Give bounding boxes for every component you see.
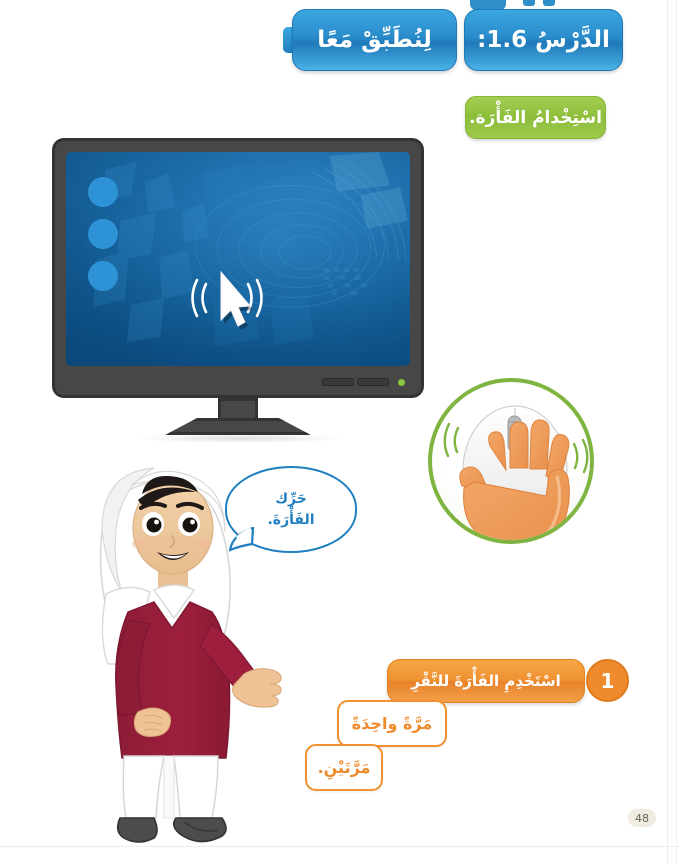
motion-arc-right — [248, 280, 262, 316]
page-gutter-line — [667, 0, 668, 864]
pants-right-icon — [174, 756, 218, 818]
speech-bubble-tail — [229, 527, 255, 553]
mouse-cursor-group — [186, 264, 276, 334]
motion-arc-left — [445, 424, 458, 456]
answer-option-twice[interactable]: مَرَّتَيْنِ. — [305, 744, 383, 791]
answer-option-once[interactable]: مَرَّةً واحِدَةً — [337, 700, 447, 747]
arrow-cursor-icon — [221, 272, 253, 330]
task-number-badge: 1 — [586, 659, 629, 702]
apply-together-title: لِنُطَبِّقْ مَعًا — [292, 9, 457, 71]
header-decor-tab-2 — [523, 0, 535, 6]
motion-arc-left — [193, 280, 207, 316]
page-header: لِنُطَبِّقْ مَعًا الدَّرْسُ 1.6: — [0, 0, 680, 80]
monitor-button-2[interactable] — [357, 378, 389, 386]
shoe-left-icon — [118, 818, 157, 842]
motion-arc-right — [574, 440, 587, 472]
speech-line-2: الفَأْرَةَ. — [267, 510, 314, 531]
desktop-icon-3[interactable] — [88, 261, 118, 291]
textbook-page: لِنُطَبِّقْ مَعًا الدَّرْسُ 1.6: اسْتِخْ… — [0, 0, 680, 864]
monitor-button-1[interactable] — [322, 378, 354, 386]
page-gutter-line-outer — [676, 0, 677, 864]
monitor-screen — [66, 152, 410, 366]
desktop-icon-1[interactable] — [88, 177, 118, 207]
page-number: 48 — [628, 809, 656, 827]
monitor-bezel — [52, 138, 424, 398]
task-instruction-banner: اسْتَخْدِمِ الفَأْرَةَ للنَّقْرِ — [387, 659, 585, 703]
monitor-control-bar — [55, 366, 421, 395]
eye-left-icon — [147, 518, 162, 533]
pants-left-icon — [123, 756, 164, 818]
lesson-subtitle: اسْتِخْدامُ الفَأْرَة. — [465, 96, 606, 139]
eye-right-icon — [183, 518, 198, 533]
speech-line-1: حَرِّك — [275, 489, 307, 510]
computer-monitor — [52, 138, 424, 398]
header-decor-tab-3 — [543, 0, 555, 6]
power-led-icon — [398, 379, 405, 386]
lesson-number-title: الدَّرْسُ 1.6: — [464, 9, 623, 71]
desktop-icon-2[interactable] — [88, 219, 118, 249]
hand-on-mouse-illustration — [428, 378, 594, 544]
